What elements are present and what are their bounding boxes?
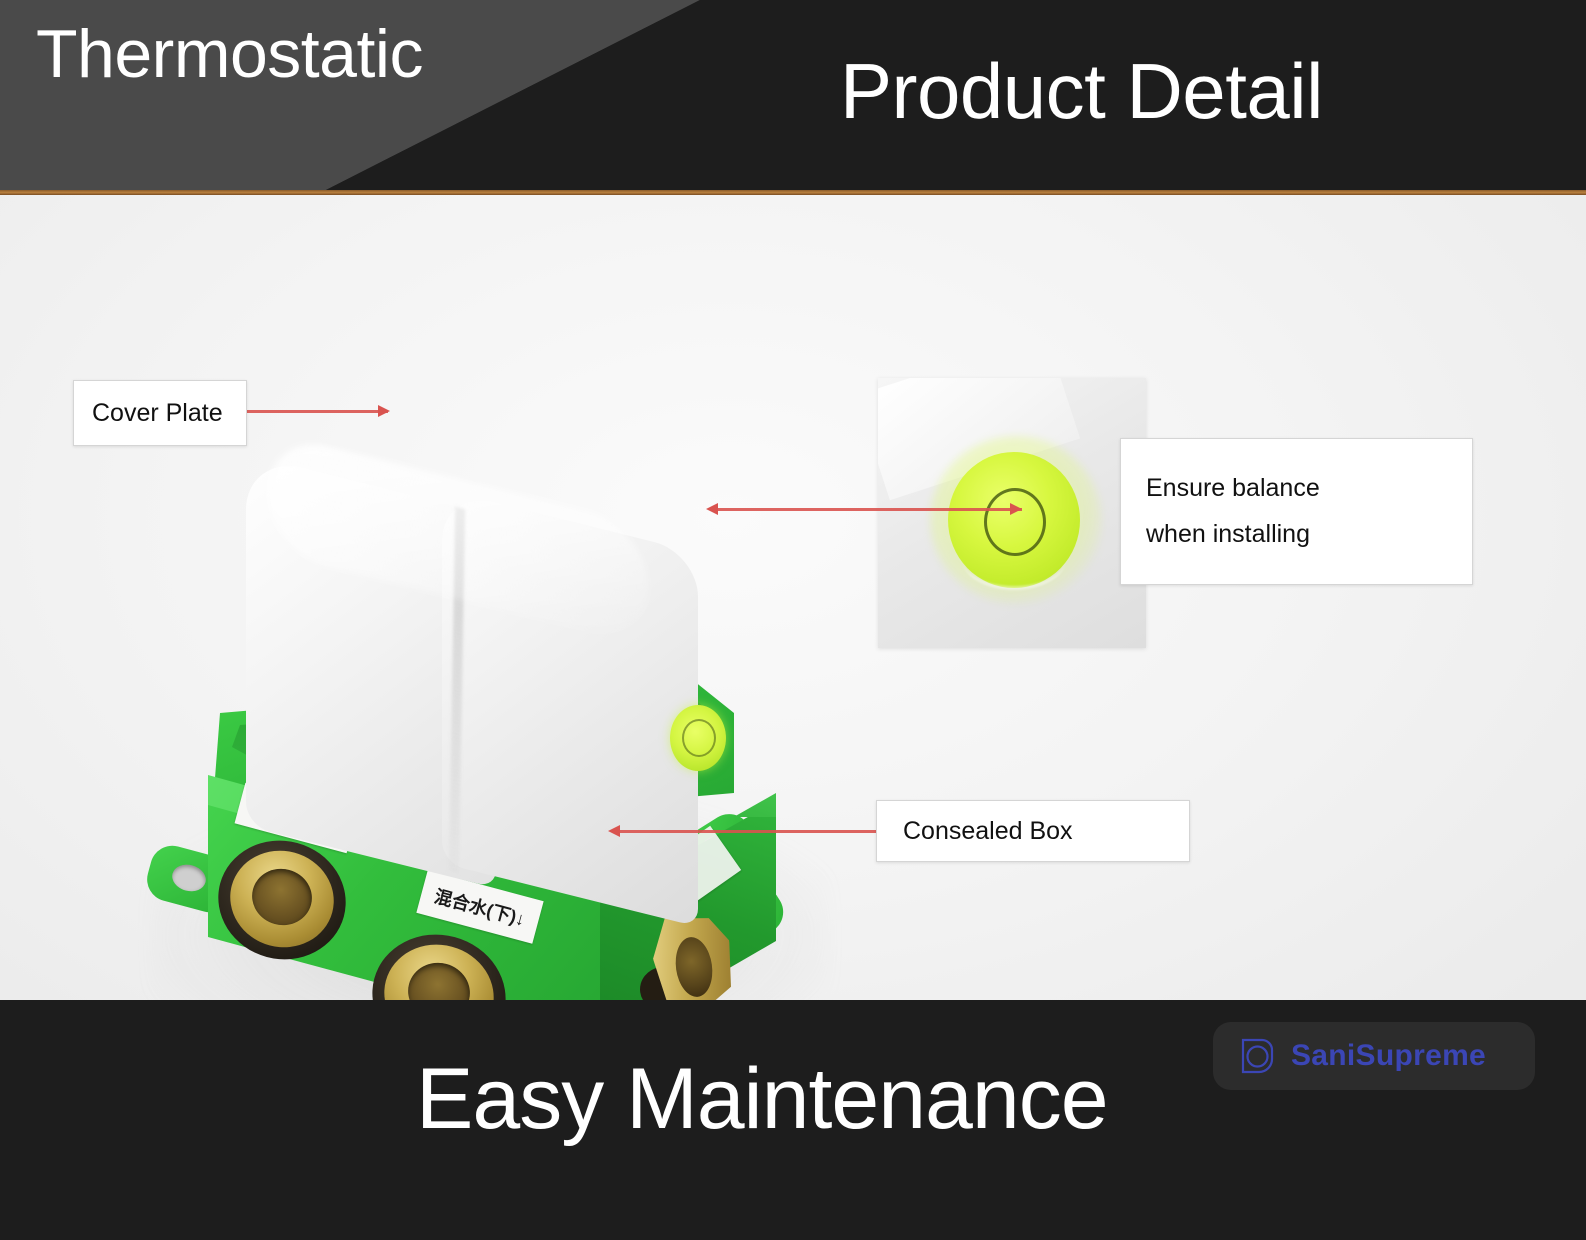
callout-ensure-balance-line1: Ensure balance [1146,476,1472,501]
callout-ensure-balance: Ensure balance when installing [1120,438,1473,585]
cover-plate-part [246,463,716,883]
arrowhead-icon [706,503,718,515]
arrowhead-icon [378,405,390,417]
sanisupreme-logo-icon [1235,1035,1277,1077]
product-detail-page: Thermostatic Product Detail [0,0,1586,1240]
page-header: Thermostatic Product Detail [0,0,1586,190]
callout-cover-plate-label: Cover Plate [92,401,246,426]
callout-ensure-balance-line2: when installing [1146,522,1472,547]
arrowhead-icon [608,825,620,837]
brand-watermark: SaniSupreme [1213,1022,1535,1090]
header-title-right: Product Detail [840,52,1323,130]
product-image: Cold 混合水(下)↓ [120,445,840,1000]
callout-consealed-box-label: Consealed Box [903,819,1189,844]
leader-line-ensure-balance [712,508,1022,511]
bubble-level-ring [984,488,1046,556]
page-footer: Easy Maintenance SaniSupreme [0,1000,1586,1240]
bubble-level-ring [682,719,716,757]
footer-title: Easy Maintenance [416,1056,1108,1142]
leader-line-cover-plate [246,410,388,413]
arrowhead-icon [1010,503,1022,515]
brand-watermark-name: SaniSupreme [1291,1039,1486,1073]
leader-line-consealed-box [614,830,882,833]
callout-consealed-box: Consealed Box [876,800,1190,862]
header-title-left: Thermostatic [36,20,423,88]
product-photo-stage: Cold 混合水(下)↓ [0,195,1586,1000]
callout-cover-plate: Cover Plate [73,380,247,446]
